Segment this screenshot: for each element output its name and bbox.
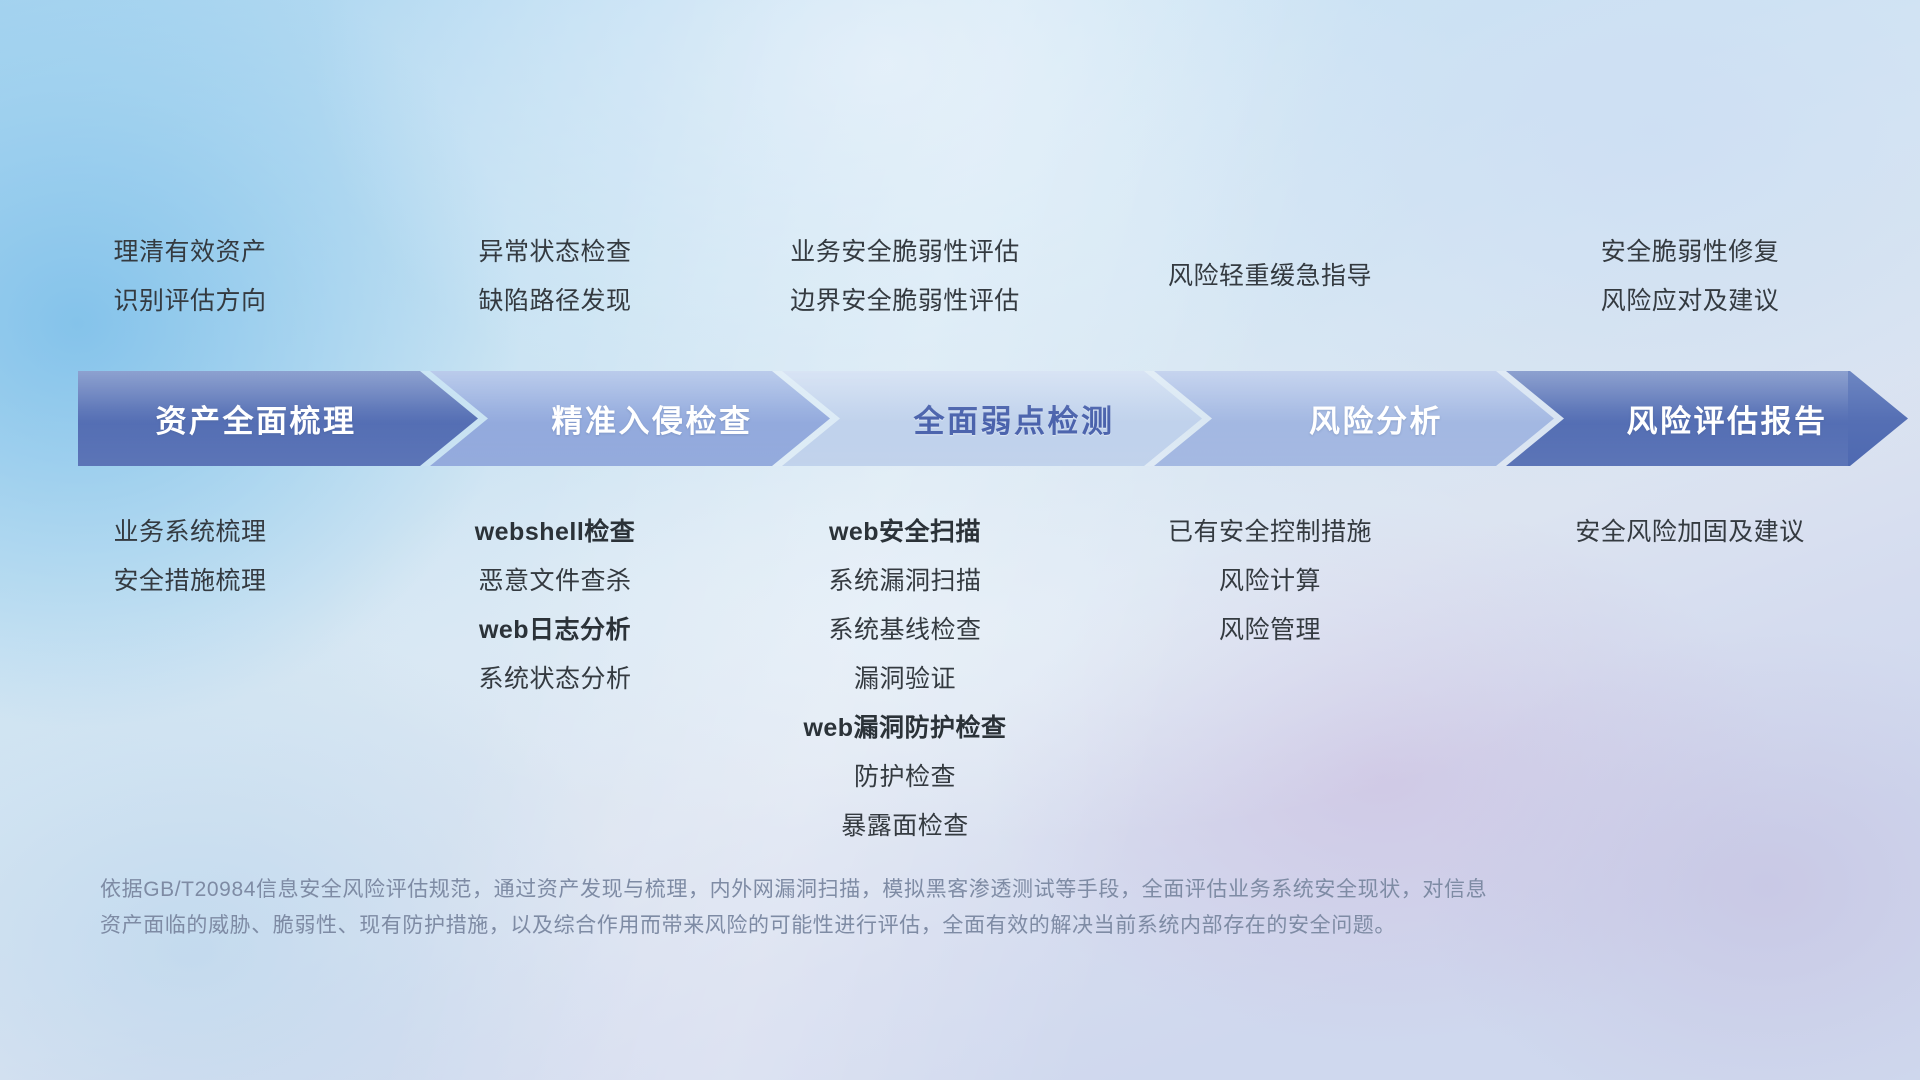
bottom-captions-weakness-detection: web安全扫描 系统漏洞扫描 系统基线检查 漏洞验证 web漏洞防护检查 防护检… [730,508,1080,851]
chevron-stage-asset-inventory[interactable]: 资产全面梳理 [78,371,478,466]
caption-item: 风险管理 [1219,606,1321,655]
caption-item: 系统状态分析 [478,655,631,704]
chevron-label: 精准入侵检查 [552,396,753,441]
caption-item: 理清有效资产 [113,228,266,277]
bottom-captions-asset-inventory: 业务系统梳理 安全措施梳理 [0,508,380,606]
bottom-captions-risk-analysis: 已有安全控制措施 风险计算 风险管理 [1080,508,1460,655]
top-captions-intrusion-check: 异常状态检查 缺陷路径发现 [380,228,730,326]
chevron-label: 风险评估报告 [1627,396,1828,441]
caption-item: 安全脆弱性修复 [1601,228,1780,277]
footer-line-1: 依据GB/T20984信息安全风险评估规范，通过资产发现与梳理，内外网漏洞扫描，… [100,872,1760,908]
caption-item: 业务安全脆弱性评估 [790,228,1020,277]
caption-item: 防护检查 [854,753,956,802]
top-captions-asset-inventory: 理清有效资产 识别评估方向 [0,228,380,326]
bottom-captions-risk-report: 安全风险加固及建议 [1460,508,1920,557]
bottom-captions-intrusion-check: webshell检查 恶意文件查杀 web日志分析 系统状态分析 [380,508,730,704]
caption-item: 边界安全脆弱性评估 [790,277,1020,326]
footer-description: 依据GB/T20984信息安全风险评估规范，通过资产发现与梳理，内外网漏洞扫描，… [100,872,1760,944]
footer-line-2: 资产面临的威胁、脆弱性、现有防护措施，以及综合作用而带来风险的可能性进行评估，全… [100,908,1760,944]
caption-item: 已有安全控制措施 [1168,508,1372,557]
caption-item: webshell检查 [475,508,636,557]
top-captions-row: 理清有效资产 识别评估方向 异常状态检查 缺陷路径发现 业务安全脆弱性评估 边界… [0,228,1920,326]
bottom-captions-row: 业务系统梳理 安全措施梳理 webshell检查 恶意文件查杀 web日志分析 … [0,508,1920,851]
top-captions-weakness-detection: 业务安全脆弱性评估 边界安全脆弱性评估 [730,228,1080,326]
chevron-stage-intrusion-check[interactable]: 精准入侵检查 [430,371,830,466]
chevron-stage-weakness-detection[interactable]: 全面弱点检测 [782,371,1202,466]
chevron-stage-risk-analysis[interactable]: 风险分析 [1154,371,1554,466]
caption-item: 恶意文件查杀 [478,557,631,606]
caption-item: 系统漏洞扫描 [828,557,981,606]
caption-item: 异常状态检查 [478,228,631,277]
caption-item: 风险轻重缓急指导 [1168,252,1372,301]
caption-item: web漏洞防护检查 [803,704,1006,753]
slide-canvas: 理清有效资产 识别评估方向 异常状态检查 缺陷路径发现 业务安全脆弱性评估 边界… [0,0,1920,1080]
top-captions-risk-analysis: 风险轻重缓急指导 [1080,228,1460,301]
caption-item: 安全措施梳理 [113,557,266,606]
caption-item: 缺陷路径发现 [478,277,631,326]
caption-item: web日志分析 [479,606,631,655]
caption-item: 风险应对及建议 [1601,277,1780,326]
caption-item: 业务系统梳理 [113,508,266,557]
chevron-label: 全面弱点检测 [914,396,1115,441]
caption-item: 系统基线检查 [828,606,981,655]
top-captions-risk-report: 安全脆弱性修复 风险应对及建议 [1460,228,1920,326]
chevron-label: 风险分析 [1309,396,1443,441]
caption-item: 漏洞验证 [854,655,956,704]
chevron-stage-risk-report[interactable]: 风险评估报告 [1506,371,1908,466]
caption-item: 安全风险加固及建议 [1575,508,1805,557]
caption-item: 暴露面检查 [841,802,969,851]
caption-item: 识别评估方向 [113,277,266,326]
caption-item: 风险计算 [1219,557,1321,606]
process-chevron-banner: 资产全面梳理 精准入侵检查 全面弱点检测 风险分析 风险评估报告 [78,371,1848,466]
chevron-label: 资产全面梳理 [156,396,357,441]
caption-item: web安全扫描 [829,508,981,557]
